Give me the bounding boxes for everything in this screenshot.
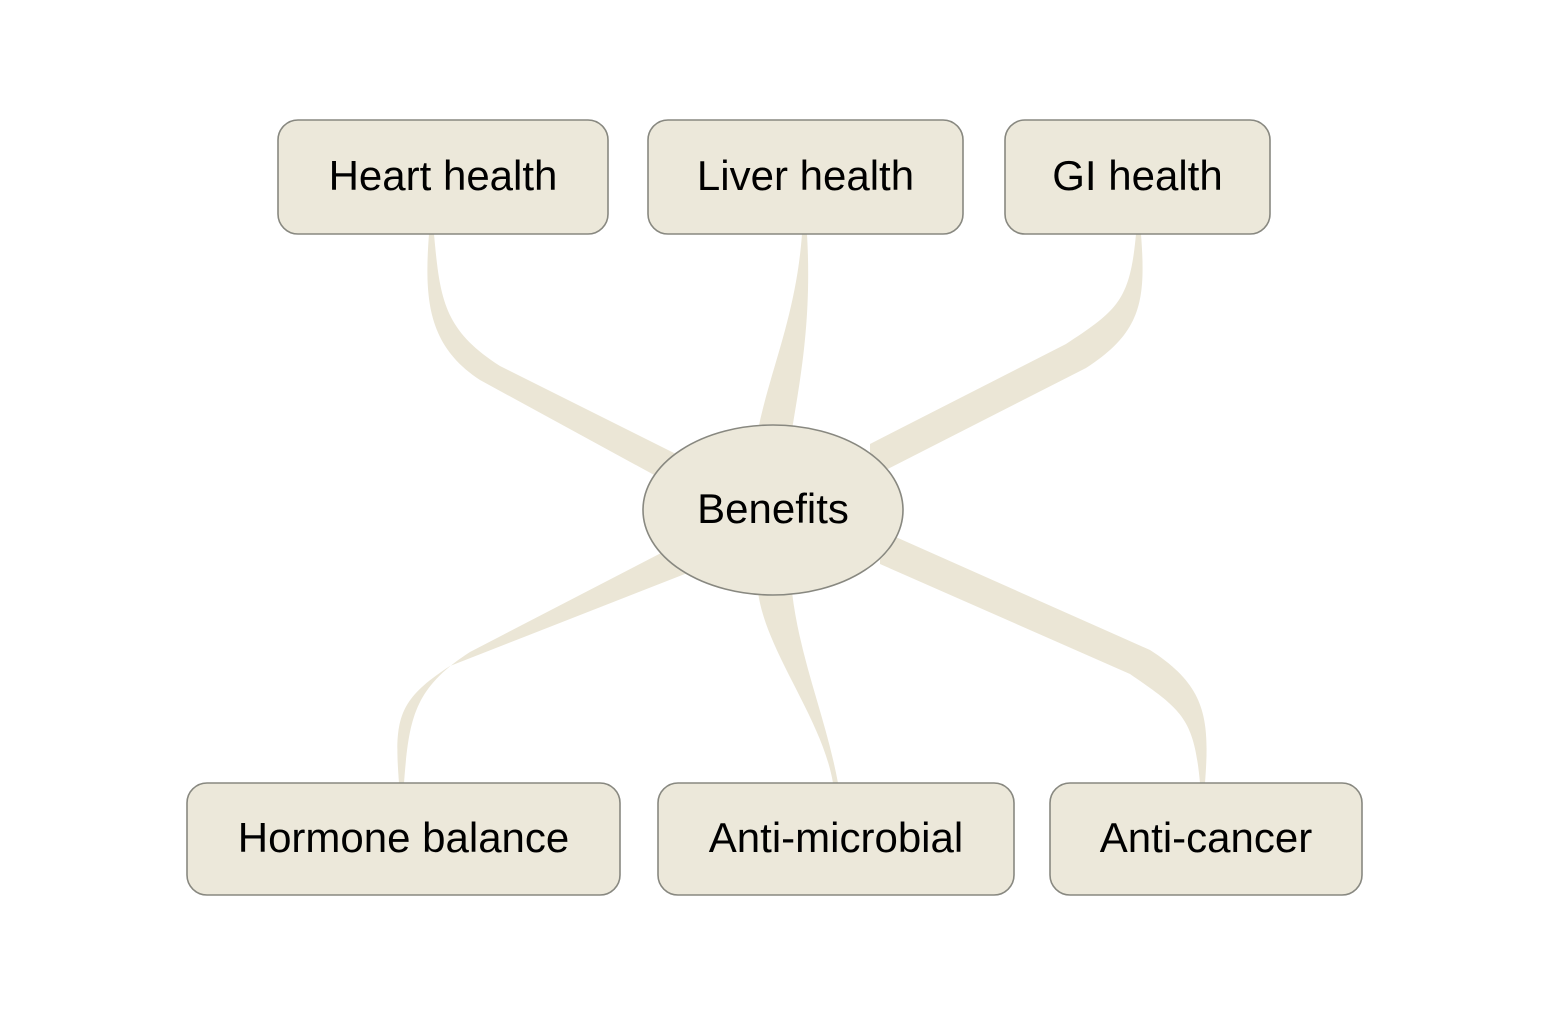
node-anti-microbial-label: Anti-microbial <box>709 814 963 861</box>
edge-benefits-anti-microbial <box>758 592 838 783</box>
node-hormone-balance[interactable]: Hormone balance <box>187 783 620 895</box>
node-liver-health-label: Liver health <box>697 152 914 199</box>
node-heart-health-label: Heart health <box>329 152 558 199</box>
mindmap-canvas: Heart health Liver health GI health Horm… <box>0 0 1564 1020</box>
node-liver-health[interactable]: Liver health <box>648 120 963 234</box>
node-anti-cancer[interactable]: Anti-cancer <box>1050 783 1362 895</box>
node-anti-cancer-label: Anti-cancer <box>1100 814 1312 861</box>
edge-benefits-liver-health <box>758 234 808 430</box>
node-benefits[interactable]: Benefits <box>643 425 903 595</box>
edge-benefits-heart-health <box>427 234 700 500</box>
node-heart-health[interactable]: Heart health <box>278 120 608 234</box>
node-gi-health[interactable]: GI health <box>1005 120 1270 234</box>
node-hormone-balance-label: Hormone balance <box>238 814 570 861</box>
edge-benefits-gi-health <box>870 234 1143 478</box>
edge-benefits-hormone-balance <box>397 538 690 783</box>
node-layer: Heart health Liver health GI health Horm… <box>187 120 1362 895</box>
mindmap-diagram: Heart health Liver health GI health Horm… <box>0 0 1564 1020</box>
node-gi-health-label: GI health <box>1052 152 1222 199</box>
node-anti-microbial[interactable]: Anti-microbial <box>658 783 1014 895</box>
edge-benefits-anti-cancer <box>880 530 1207 783</box>
node-benefits-label: Benefits <box>697 485 849 532</box>
